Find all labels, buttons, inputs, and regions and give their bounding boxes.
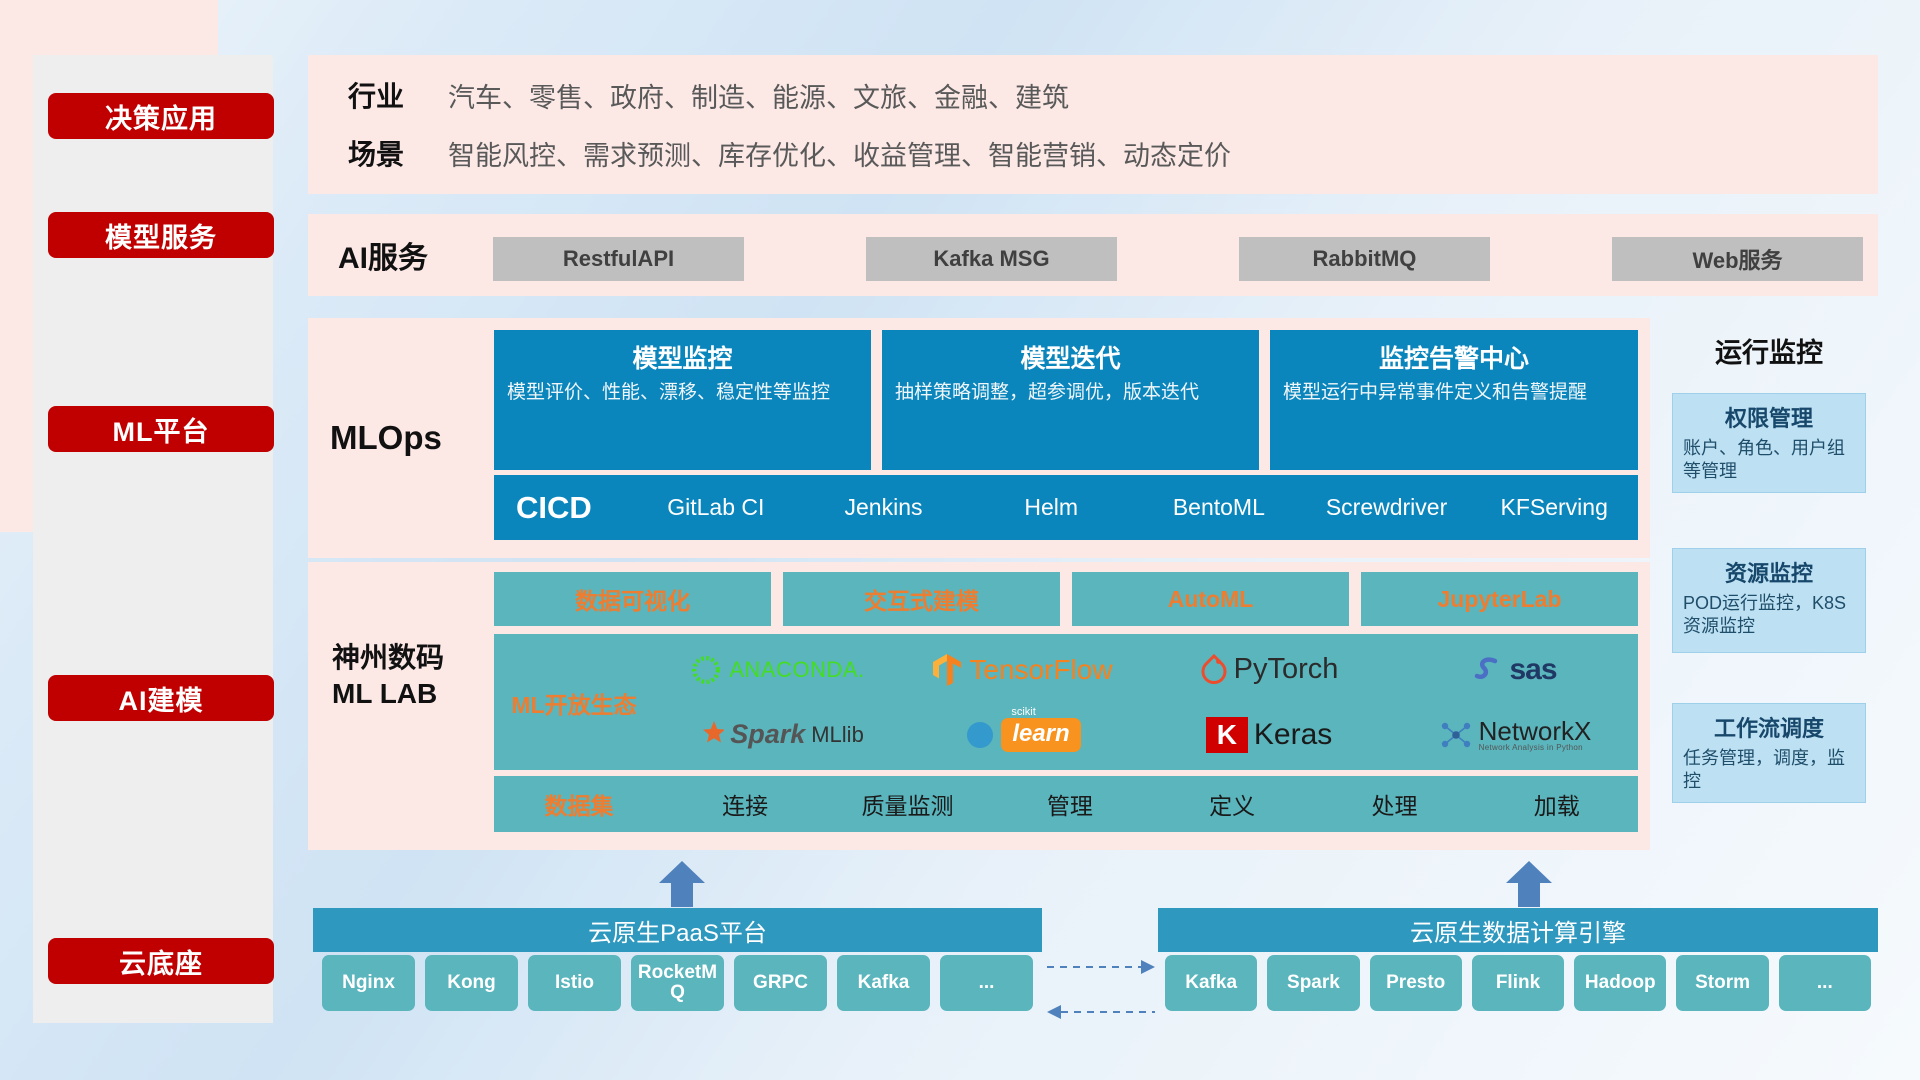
tool-jupyterlab[interactable]: JupyterLab <box>1361 572 1638 626</box>
cicd-item-helm[interactable]: Helm <box>967 496 1135 519</box>
cloud-chip-hadoop[interactable]: Hadoop <box>1574 955 1666 1011</box>
cicd-item-gitlab[interactable]: GitLab CI <box>632 496 800 519</box>
networkx-subtitle: Network Analysis in Python <box>1479 744 1592 752</box>
cloud-chip-flink[interactable]: Flink <box>1472 955 1564 1011</box>
card-title: 监控告警中心 <box>1283 339 1625 375</box>
dataset-item-quality[interactable]: 质量监测 <box>826 787 988 821</box>
industry-row: 行业 汽车、零售、政府、制造、能源、文旅、金融、建筑 <box>348 70 1848 120</box>
card-desc: 模型运行中异常事件定义和告警提醒 <box>1283 380 1625 405</box>
cloud-compute-strip: Kafka Spark Presto Flink Hadoop Storm ..… <box>1165 955 1871 1011</box>
card-title: 模型监控 <box>507 339 858 375</box>
dataset-item-connect[interactable]: 连接 <box>664 787 826 821</box>
networkx-logo: NetworkX Network Analysis in Python <box>1439 718 1592 752</box>
dataset-item-process[interactable]: 处理 <box>1313 787 1475 821</box>
ml-open-ecosystem-box: ML开放生态 ANACONDA. TensorFlow <box>494 634 1638 770</box>
card-desc: 任务管理，调度，监控 <box>1673 747 1865 802</box>
scenario-value: 智能风控、需求预测、库存优化、收益管理、智能营销、动态定价 <box>448 134 1231 173</box>
cloud-chip-presto[interactable]: Presto <box>1370 955 1462 1011</box>
scikit-label: scikit <box>1011 706 1035 718</box>
tool-interactive-modeling[interactable]: 交互式建模 <box>783 572 1060 626</box>
cloud-chip-kafka-2[interactable]: Kafka <box>1165 955 1257 1011</box>
ai-service-label: AI服务 <box>338 214 488 296</box>
service-box-label: Kafka MSG <box>933 246 1049 272</box>
sas-icon <box>1473 655 1503 685</box>
logo-grid: ANACONDA. TensorFlow PyTorch <box>654 637 1638 767</box>
service-box-web[interactable]: Web服务 <box>1612 237 1863 281</box>
cloud-chip-grpc[interactable]: GRPC <box>734 955 827 1011</box>
cloud-chip-storm[interactable]: Storm <box>1676 955 1768 1011</box>
tool-label: AutoML <box>1168 586 1254 613</box>
sidebar-item-model-service[interactable]: 模型服务 <box>48 212 274 258</box>
cloud-chip-rocketmq[interactable]: RocketMQ <box>631 955 724 1011</box>
industry-value: 汽车、零售、政府、制造、能源、文旅、金融、建筑 <box>448 76 1069 115</box>
cicd-title: CICD <box>494 490 632 526</box>
anaconda-label: ANACONDA. <box>729 657 864 683</box>
architecture-diagram: 决策应用 模型服务 ML平台 AI建模 云底座 行业 汽车、零售、政府、制造、能… <box>0 0 1920 1080</box>
monitor-card-workflow[interactable]: 工作流调度 任务管理，调度，监控 <box>1672 703 1866 803</box>
pytorch-label: PyTorch <box>1234 653 1339 686</box>
cicd-item-bentoml[interactable]: BentoML <box>1135 496 1303 519</box>
ml-lab-label-line1: 神州数码 <box>332 640 444 676</box>
mlops-card-model-monitoring[interactable]: 模型监控 模型评价、性能、漂移、稳定性等监控 <box>494 330 871 470</box>
scikit-learn-logo: scikit learn <box>965 718 1080 752</box>
tensorflow-logo: TensorFlow <box>933 653 1112 687</box>
anaconda-icon <box>689 653 723 687</box>
cicd-item-screwdriver[interactable]: Screwdriver <box>1303 496 1471 519</box>
runtime-monitor-title: 运行监控 <box>1660 322 1878 378</box>
sidebar-item-ai-modeling[interactable]: AI建模 <box>48 675 274 721</box>
cloud-paas-strip: Nginx Kong Istio RocketMQ GRPC Kafka ... <box>322 955 1033 1011</box>
dataset-item-define[interactable]: 定义 <box>1151 787 1313 821</box>
service-box-label: RestfulAPI <box>563 246 674 272</box>
pytorch-logo: PyTorch <box>1200 653 1339 686</box>
arrow-up-compute-icon <box>1502 861 1556 907</box>
service-box-restfulapi[interactable]: RestfulAPI <box>493 237 744 281</box>
sidebar-item-label: 决策应用 <box>105 97 217 136</box>
tool-label: JupyterLab <box>1438 586 1562 613</box>
sidebar-item-cloud-base[interactable]: 云底座 <box>48 938 274 984</box>
sas-logo: sas <box>1473 653 1556 687</box>
tool-label: 交互式建模 <box>864 582 979 616</box>
scenario-row: 场景 智能风控、需求预测、库存优化、收益管理、智能营销、动态定价 <box>348 128 1848 178</box>
networkx-label: NetworkX <box>1479 718 1592 744</box>
scikit-learn-badge: scikit learn <box>1001 718 1080 752</box>
cicd-item-jenkins[interactable]: Jenkins <box>800 496 968 519</box>
card-title: 工作流调度 <box>1673 704 1865 747</box>
keras-label: Keras <box>1254 718 1332 752</box>
tool-automl[interactable]: AutoML <box>1072 572 1349 626</box>
sidebar-item-label: 云底座 <box>119 942 203 981</box>
service-box-kafka-msg[interactable]: Kafka MSG <box>866 237 1117 281</box>
ml-lab-label-line2: ML LAB <box>332 676 437 712</box>
tool-data-visualization[interactable]: 数据可视化 <box>494 572 771 626</box>
tensorflow-label: TensorFlow <box>969 654 1112 686</box>
cloud-chip-spark[interactable]: Spark <box>1267 955 1359 1011</box>
card-desc: POD运行监控，K8S资源监控 <box>1673 592 1865 647</box>
mlops-card-alert-center[interactable]: 监控告警中心 模型运行中异常事件定义和告警提醒 <box>1270 330 1638 470</box>
cloud-paas-title: 云原生PaaS平台 <box>313 908 1042 952</box>
sidebar-item-label: 模型服务 <box>105 216 217 255</box>
dataset-item-manage[interactable]: 管理 <box>989 787 1151 821</box>
mlops-label: MLOps <box>330 318 490 558</box>
sidebar-item-label: ML平台 <box>113 410 210 449</box>
ml-lab-label: 神州数码 ML LAB <box>318 640 498 720</box>
mlops-card-model-iteration[interactable]: 模型迭代 抽样策略调整，超参调优，版本迭代 <box>882 330 1259 470</box>
pytorch-icon <box>1200 654 1228 686</box>
cloud-chip-nginx[interactable]: Nginx <box>322 955 415 1011</box>
service-box-label: RabbitMQ <box>1313 246 1417 272</box>
sidebar-item-label: AI建模 <box>119 679 204 718</box>
card-desc: 账户、角色、用户组等管理 <box>1673 437 1865 492</box>
spark-star-icon <box>690 720 724 750</box>
cloud-chip-more[interactable]: ... <box>940 955 1033 1011</box>
cloud-chip-kafka[interactable]: Kafka <box>837 955 930 1011</box>
mllib-label: MLlib <box>811 722 864 748</box>
cloud-chip-kong[interactable]: Kong <box>425 955 518 1011</box>
dataset-bar: 数据集 连接 质量监测 管理 定义 处理 加载 <box>494 776 1638 832</box>
cloud-chip-more-2[interactable]: ... <box>1779 955 1871 1011</box>
card-title: 权限管理 <box>1673 394 1865 437</box>
dashed-connector-left-icon <box>1045 1000 1157 1040</box>
tool-label: 数据可视化 <box>575 582 690 616</box>
keras-logo: K Keras <box>1206 717 1333 753</box>
card-title: 模型迭代 <box>895 339 1246 375</box>
service-box-label: Web服务 <box>1692 243 1782 275</box>
spark-wordmark: Spark <box>730 719 805 750</box>
sas-label: sas <box>1509 653 1556 687</box>
spark-logo: Spark MLlib <box>690 719 864 750</box>
networkx-graph-icon <box>1439 719 1473 751</box>
arrow-up-paas-icon <box>655 861 709 907</box>
cloud-compute-title: 云原生数据计算引擎 <box>1158 908 1878 952</box>
sidebar-item-decision-app[interactable]: 决策应用 <box>48 93 274 139</box>
monitor-card-resource[interactable]: 资源监控 POD运行监控，K8S资源监控 <box>1672 548 1866 653</box>
layer-rail <box>33 55 273 1023</box>
scikit-blue-dot-icon <box>965 720 995 750</box>
card-title: 资源监控 <box>1673 549 1865 592</box>
card-desc: 抽样策略调整，超参调优，版本迭代 <box>895 380 1246 405</box>
industry-label: 行业 <box>348 75 448 115</box>
card-desc: 模型评价、性能、漂移、稳定性等监控 <box>507 380 858 405</box>
service-box-rabbitmq[interactable]: RabbitMQ <box>1239 237 1490 281</box>
dataset-item-load[interactable]: 加载 <box>1476 787 1638 821</box>
cloud-chip-istio[interactable]: Istio <box>528 955 621 1011</box>
eco-title: ML开放生态 <box>494 686 654 720</box>
dataset-title: 数据集 <box>494 787 664 821</box>
monitor-card-permission[interactable]: 权限管理 账户、角色、用户组等管理 <box>1672 393 1866 493</box>
tensorflow-icon <box>933 653 963 687</box>
sidebar-item-ml-platform[interactable]: ML平台 <box>48 406 274 452</box>
learn-label: learn <box>1012 720 1069 747</box>
scenario-label: 场景 <box>348 133 448 173</box>
cicd-bar: CICD GitLab CI Jenkins Helm BentoML Scre… <box>494 475 1638 540</box>
anaconda-logo: ANACONDA. <box>689 653 864 687</box>
keras-mark: K <box>1206 717 1248 753</box>
cicd-item-kfserving[interactable]: KFServing <box>1470 496 1638 519</box>
